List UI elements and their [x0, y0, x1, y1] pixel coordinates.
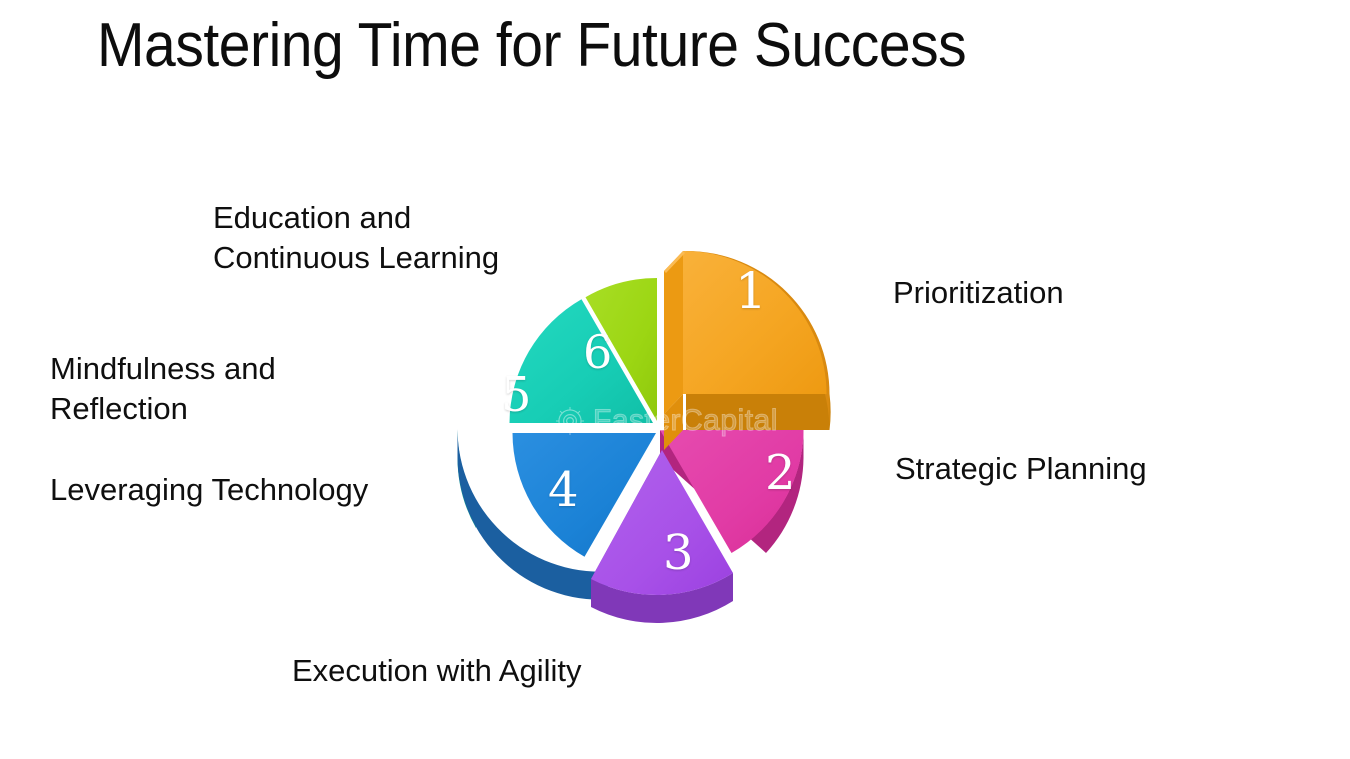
callout-prioritization: Prioritization	[893, 273, 1064, 313]
slice-number-3: 3	[663, 530, 694, 576]
callout-education-and-continuous-learning: Education and Continuous Learning	[213, 198, 499, 278]
slice-1-wall-left	[664, 251, 683, 414]
slice-number-5: 5	[501, 372, 532, 418]
callout-strategic-planning: Strategic Planning	[895, 449, 1147, 489]
callout-mindfulness-and-reflection: Mindfulness and Reflection	[50, 349, 276, 429]
slice-number-4: 4	[548, 467, 579, 513]
callout-execution-with-agility: Execution with Agility	[292, 651, 581, 691]
slice-1-depth-bottom	[686, 394, 831, 430]
callout-leveraging-technology: Leveraging Technology	[50, 470, 368, 510]
slice-number-2: 2	[765, 450, 796, 496]
slice-number-1: 1	[735, 268, 767, 314]
slice-number-6: 6	[583, 329, 612, 375]
